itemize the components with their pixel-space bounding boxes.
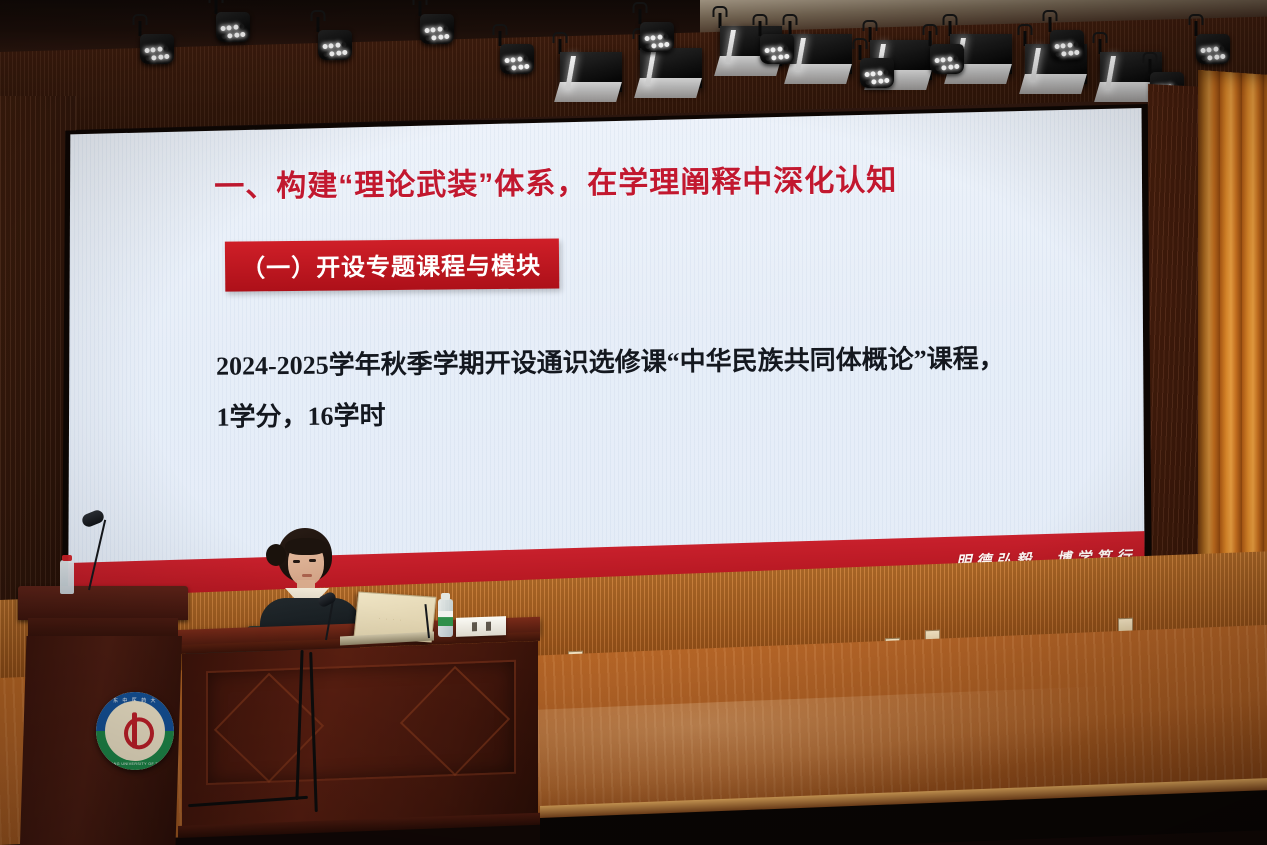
auditorium-photo: 一、构建“理论武装”体系，在学理阐释中深化认知 （一）开设专题课程与模块 202… (0, 0, 1267, 845)
presenter-hair-bun (266, 544, 286, 566)
presenter-table (178, 630, 540, 845)
slide-body-line-1: 2024-2025学年秋季学期开设通识选修课“中华民族共同体概论”课程， (216, 344, 1005, 381)
slide-title: 一、构建“理论武装”体系，在学理阐释中深化认知 (214, 153, 1094, 205)
emblem-english-name: SHANDONG UNIVERSITY OF TRADITIONAL CHINE… (96, 762, 174, 766)
laptop: · · · · (356, 594, 432, 640)
university-emblem: 山 东 中 医 药 大 学 SHANDONG UNIVERSITY OF TRA… (96, 692, 174, 770)
table-diamond-motif (214, 673, 324, 783)
table-recessed-panel (206, 660, 516, 785)
emblem-glyph-icon (120, 713, 150, 747)
bottle-label (438, 611, 453, 626)
water-bottle (438, 593, 453, 637)
slide-subtitle-bar: （一）开设专题课程与模块 (225, 238, 559, 291)
podium-bottle-cap (62, 555, 72, 561)
slide-body: 2024-2025学年秋季学期开设通识选修课“中华民族共同体概论”课程， 1学分… (216, 333, 1117, 443)
presenter-eye-right (309, 559, 316, 562)
emblem-inner-field (105, 701, 165, 761)
table-diamond-motif (400, 666, 510, 776)
placard-glyph (486, 622, 491, 631)
placard-glyph (472, 622, 477, 631)
table-front-panel (182, 641, 538, 834)
bottle-cap (441, 593, 450, 600)
laptop-logo: · · · · (378, 616, 403, 624)
presenter-mouth (302, 574, 312, 577)
slide-body-line-2: 1学分，16学时 (216, 384, 1116, 443)
presenter-eye-left (293, 560, 300, 563)
slide-subtitle-text: （一）开设专题课程与模块 (241, 253, 541, 283)
lectern-top (18, 586, 188, 620)
lectern-neck (28, 618, 178, 638)
podium-water-bottle (60, 560, 74, 594)
name-placard (456, 616, 506, 637)
projection-screen: 一、构建“理论武装”体系，在学理阐释中深化认知 （一）开设专题课程与模块 202… (66, 106, 1148, 612)
presenter-fringe (285, 538, 327, 555)
